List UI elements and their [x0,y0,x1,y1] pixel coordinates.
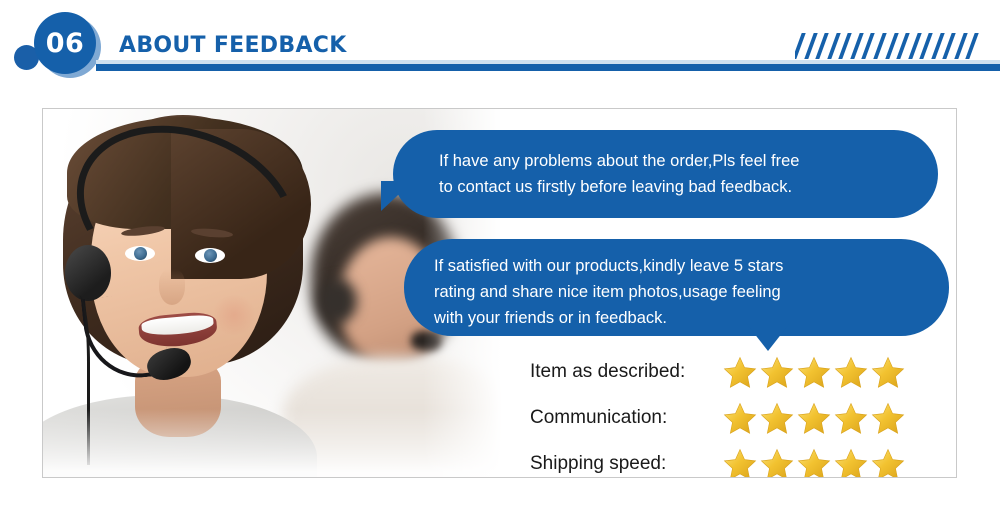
hatch-stripe [839,33,852,59]
hatch-stripe [919,33,932,59]
ratings-list: Item as described: Communication: Shippi… [530,349,930,478]
section-number-label: 06 [46,30,85,57]
hatch-stripe [873,33,886,59]
star-icon [723,402,757,435]
rating-label-item-as-described: Item as described: [530,361,723,383]
star-icon [871,448,905,479]
star-icon [871,356,905,389]
star-icon [797,402,831,435]
speech-bubble-order-problem: If have any problems about the order,Pls… [393,130,938,218]
hatch-stripe [862,33,875,59]
star-icon [723,356,757,389]
star-icon [871,402,905,435]
rating-stars-item-as-described [723,356,905,389]
hatch-stripe [896,33,909,59]
star-icon [834,402,868,435]
hatch-stripe [966,33,979,59]
hatch-stripes-decoration [795,33,980,59]
rating-label-communication: Communication: [530,407,723,429]
star-icon [760,402,794,435]
star-icon [797,356,831,389]
speech-bubble-leave-rating: If satisfied with our products,kindly le… [404,239,949,336]
rating-row: Item as described: [530,349,930,395]
hatch-stripe [815,33,828,59]
star-icon [834,356,868,389]
section-header: 06 ABOUT FEEDBACK [0,0,1000,95]
star-icon [723,448,757,479]
hatch-stripe [804,33,817,59]
background-agent-earcup [319,279,357,323]
header-rule [96,64,1000,71]
star-icon [797,448,831,479]
rating-stars-shipping-speed [723,448,905,479]
feedback-banner: 06 ABOUT FEEDBACK [0,0,1000,513]
star-icon [834,448,868,479]
hatch-stripe [795,33,806,59]
bubble-tail-down [746,323,790,351]
star-icon [760,356,794,389]
page-title: ABOUT FEEDBACK [119,33,347,58]
hatch-stripe [943,33,956,59]
agent-cheek [211,295,257,335]
star-icon [760,448,794,479]
rating-stars-communication [723,402,905,435]
headset-earcup-icon [65,245,111,301]
rating-row: Shipping speed: [530,441,930,478]
speech-bubble-order-problem-text: If have any problems about the order,Pls… [439,148,908,200]
feedback-card: If have any problems about the order,Pls… [42,108,957,478]
rating-row: Communication: [530,395,930,441]
rating-label-shipping-speed: Shipping speed: [530,453,723,475]
section-number-badge: 06 [34,12,96,74]
hatch-stripe [885,33,898,59]
speech-bubble-leave-rating-text: If satisfied with our products,kindly le… [434,253,919,331]
